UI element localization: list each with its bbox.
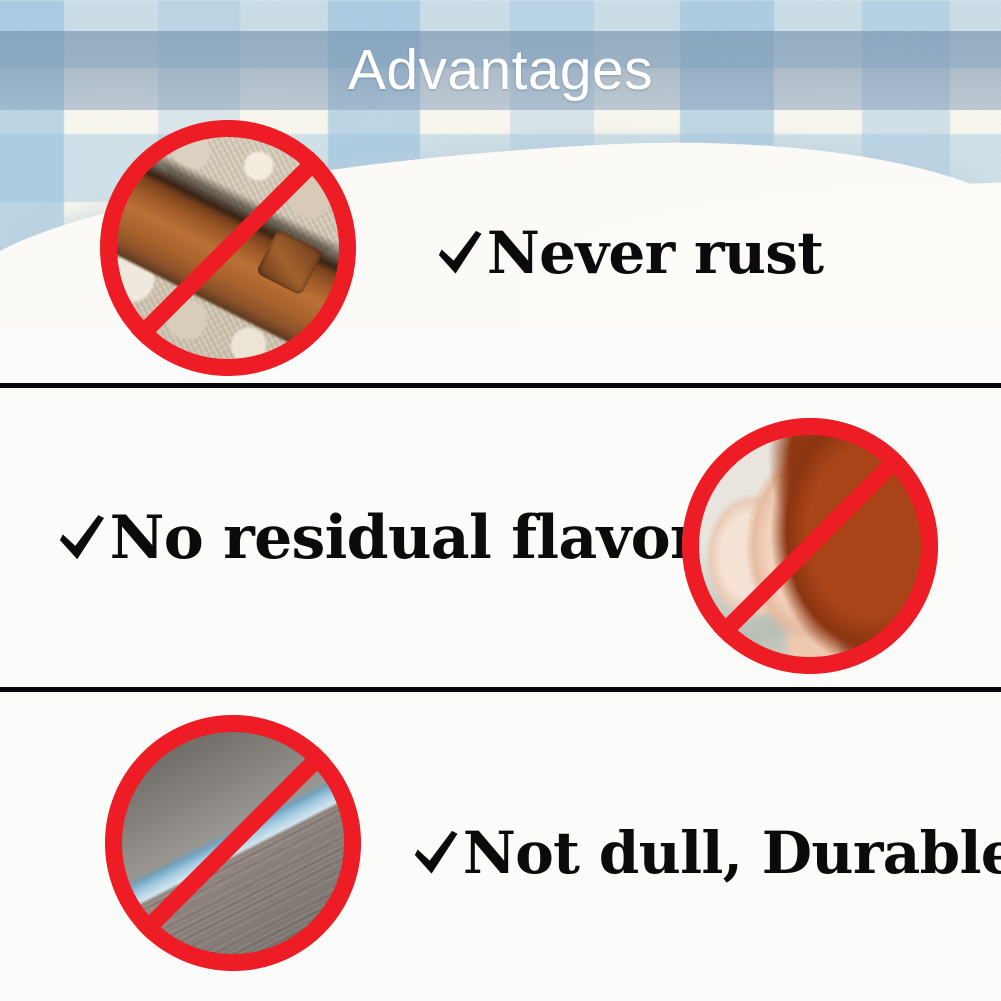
feature-label: Not dull, Durable: [463, 824, 1001, 882]
feature-label: Never rust: [487, 224, 823, 282]
page-title: Advantages: [348, 42, 653, 99]
advantages-infographic: Advantages Never rust: [0, 0, 1001, 1001]
feature-not-dull-durable: Not dull, Durable: [413, 824, 1001, 882]
checkmark-icon: [413, 825, 459, 880]
checkmark-icon: [58, 509, 106, 565]
prohibition-badge-never-rust: [100, 120, 356, 376]
header-banner: Advantages: [0, 31, 1001, 110]
advantage-panel-not-dull-durable: Not dull, Durable: [0, 694, 1001, 1001]
advantage-panel-no-residual-flavor: No residual flavor: [0, 390, 1001, 688]
prohibition-badge-no-residual-flavor: [682, 418, 938, 674]
feature-never-rust: Never rust: [437, 224, 823, 282]
panel-divider-1: [0, 383, 1001, 388]
feature-label: No residual flavor: [110, 508, 701, 568]
checkmark-icon: [437, 225, 483, 280]
feature-no-residual-flavor: No residual flavor: [58, 508, 701, 568]
advantage-panel-never-rust: Advantages Never rust: [0, 0, 1001, 385]
panel-divider-2: [0, 687, 1001, 692]
prohibition-badge-not-dull-durable: [105, 715, 361, 971]
